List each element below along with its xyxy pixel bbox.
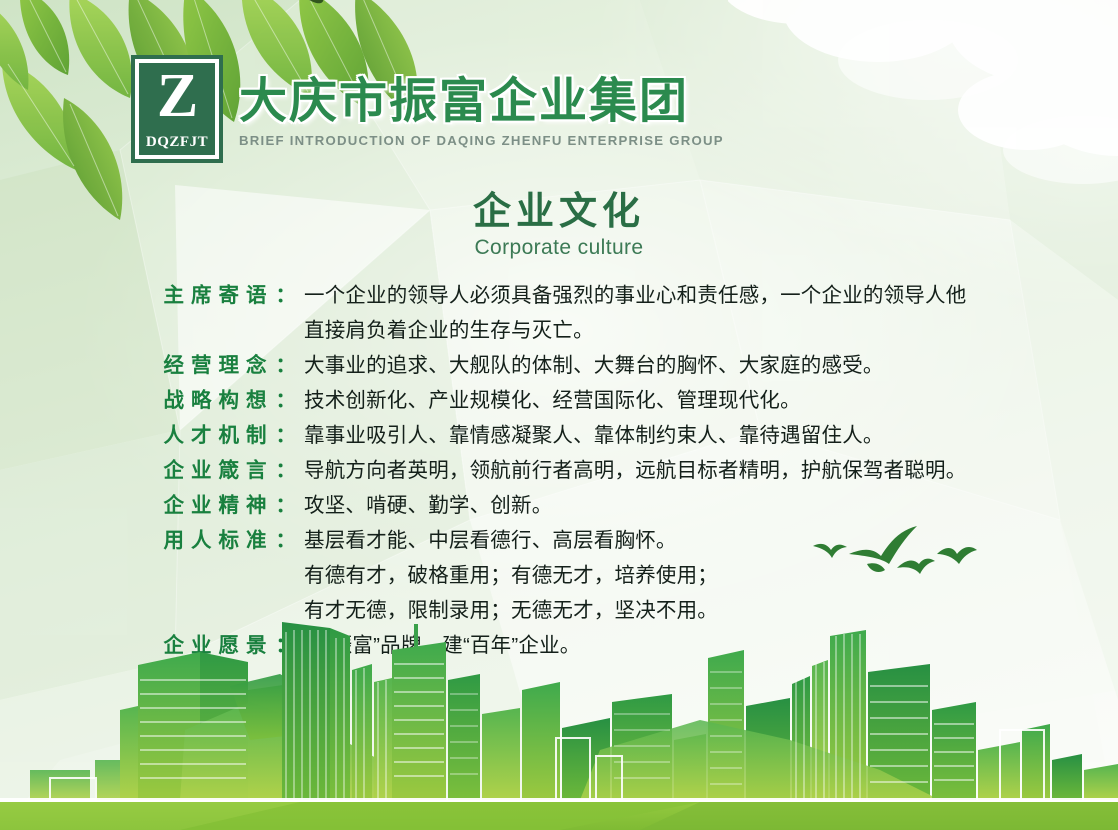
culture-row-label-text: 企业精神 — [164, 494, 274, 517]
culture-row-label-colon: ： — [276, 284, 297, 307]
culture-row-label-colon: ： — [276, 459, 297, 482]
culture-row: 企业箴言：导航方向者英明，领航前行者高明，远航目标者精明，护航保驾者聪明。 — [0, 453, 1118, 488]
culture-row: 用人标准：基层看才能、中层看德行、高层看胸怀。 — [0, 523, 1118, 558]
page-title-cn: 企业文化 — [0, 192, 1118, 234]
culture-row-label-text: 企业箴言 — [164, 459, 274, 482]
culture-row-value: 攻坚、啃硬、勤学、创新。 — [296, 488, 1118, 518]
culture-row-label: 战略构想： — [0, 383, 296, 413]
culture-row: 有才无德，限制录用；无德无才，坚决不用。 — [0, 593, 1118, 628]
corporate-culture-poster: Z DQZFJT 大庆市振富企业集团 BRIEF INTRODUCTION OF… — [0, 0, 1118, 830]
culture-row-label-text: 用人标准 — [164, 529, 274, 552]
culture-row-label: 企业愿景： — [0, 628, 296, 658]
culture-row-label: 企业箴言： — [0, 453, 296, 483]
culture-row-value: 导航方向者英明，领航前行者高明，远航目标者精明，护航保驾者聪明。 — [296, 453, 1118, 483]
culture-row: 主席寄语：一个企业的领导人必须具备强烈的事业心和责任感，一个企业的领导人他 — [0, 278, 1118, 313]
culture-row-value: 有才无德，限制录用；无德无才，坚决不用。 — [296, 593, 1118, 623]
culture-row-value: 靠事业吸引人、靠情感凝聚人、靠体制约束人、靠待遇留住人。 — [296, 418, 1118, 448]
culture-row-label-colon: ： — [276, 354, 297, 377]
culture-row-value: 大事业的追求、大舰队的体制、大舞台的胸怀、大家庭的感受。 — [296, 348, 1118, 378]
culture-row-label-text: 人才机制 — [164, 424, 274, 447]
cloud-illustration — [728, 0, 1118, 200]
culture-row-label-colon: ： — [276, 424, 297, 447]
poster-header: Z DQZFJT 大庆市振富企业集团 BRIEF INTRODUCTION OF… — [131, 55, 724, 163]
header-text-block: 大庆市振富企业集团 BRIEF INTRODUCTION OF DAQING Z… — [239, 77, 724, 148]
culture-row-value: 一个企业的领导人必须具备强烈的事业心和责任感，一个企业的领导人他 — [296, 278, 1118, 308]
culture-row-value: 基层看才能、中层看德行、高层看胸怀。 — [296, 523, 1118, 553]
culture-row-label-colon: ： — [276, 494, 297, 517]
culture-row-value: 直接肩负着企业的生存与灭亡。 — [296, 313, 1118, 343]
culture-row: 直接肩负着企业的生存与灭亡。 — [0, 313, 1118, 348]
culture-rows: 主席寄语：一个企业的领导人必须具备强烈的事业心和责任感，一个企业的领导人他直接肩… — [0, 278, 1118, 663]
logo-mark: Z DQZFJT — [139, 63, 215, 155]
culture-row-label-text: 主席寄语 — [164, 284, 274, 307]
culture-row-label-text: 经营理念 — [164, 354, 274, 377]
culture-row-label-colon: ： — [276, 389, 297, 412]
culture-row-value: 树“振富”品牌，建“百年”企业。 — [296, 628, 1118, 658]
culture-row-label: 用人标准： — [0, 523, 296, 553]
page-title-en: Corporate culture — [0, 236, 1118, 260]
culture-row: 企业愿景：树“振富”品牌，建“百年”企业。 — [0, 628, 1118, 663]
company-name-cn: 大庆市振富企业集团 — [239, 77, 724, 127]
culture-row-label: 主席寄语： — [0, 278, 296, 308]
culture-row: 经营理念：大事业的追求、大舰队的体制、大舞台的胸怀、大家庭的感受。 — [0, 348, 1118, 383]
culture-row-label-text: 战略构想 — [164, 389, 274, 412]
culture-row-value: 技术创新化、产业规模化、经营国际化、管理现代化。 — [296, 383, 1118, 413]
culture-row-label: 人才机制： — [0, 418, 296, 448]
culture-row: 战略构想：技术创新化、产业规模化、经营国际化、管理现代化。 — [0, 383, 1118, 418]
culture-row-label-text: 企业愿景 — [164, 634, 274, 657]
culture-row-label-colon: ： — [276, 634, 297, 657]
culture-row-value: 有德有才，破格重用；有德无才，培养使用； — [296, 558, 1118, 588]
page-title: 企业文化 Corporate culture — [0, 192, 1118, 260]
culture-row-label: 企业精神： — [0, 488, 296, 518]
logo-abbreviation: DQZFJT — [139, 134, 215, 151]
culture-row: 人才机制：靠事业吸引人、靠情感凝聚人、靠体制约束人、靠待遇留住人。 — [0, 418, 1118, 453]
culture-row: 企业精神：攻坚、啃硬、勤学、创新。 — [0, 488, 1118, 523]
culture-row-label: 经营理念： — [0, 348, 296, 378]
culture-row-label-colon: ： — [276, 529, 297, 552]
logo-letter: Z — [157, 67, 197, 126]
company-logo: Z DQZFJT — [131, 55, 223, 163]
culture-row: 有德有才，破格重用；有德无才，培养使用； — [0, 558, 1118, 593]
company-name-en: BRIEF INTRODUCTION OF DAQING ZHENFU ENTE… — [239, 133, 724, 148]
